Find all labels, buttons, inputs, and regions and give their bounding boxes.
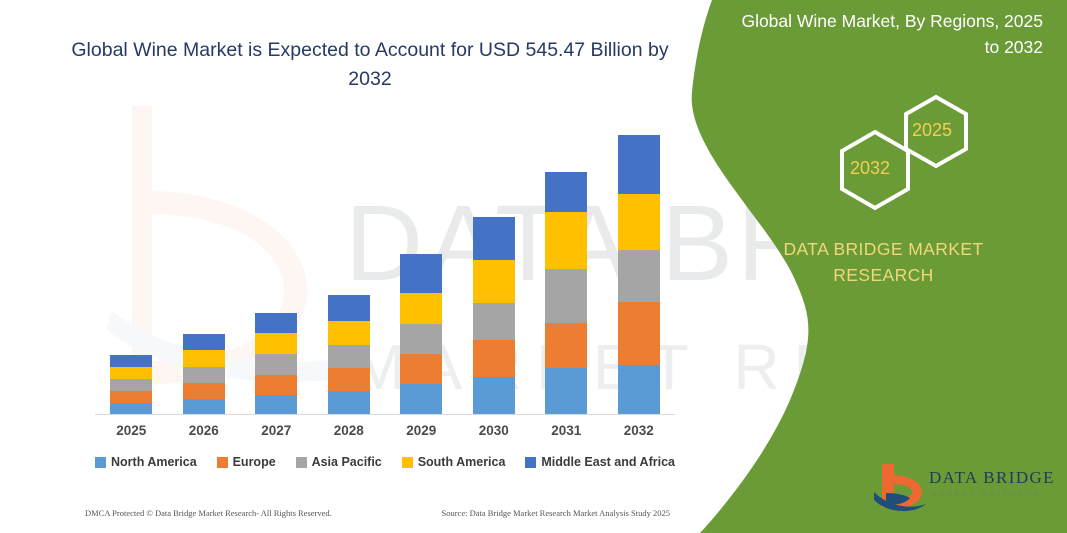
chart-legend: North America Europe Asia Pacific South … <box>95 455 675 469</box>
segment-asia-pacific <box>328 345 370 368</box>
legend-swatch-icon <box>217 457 228 468</box>
legend-label: North America <box>111 455 197 469</box>
segment-south-america <box>400 293 442 324</box>
segment-north-america <box>618 365 660 415</box>
segment-north-america <box>545 368 587 415</box>
segment-europe <box>328 368 370 391</box>
segment-south-america <box>110 367 152 379</box>
x-axis-tick-2027: 2027 <box>240 423 313 438</box>
stacked-bar[interactable] <box>618 135 660 415</box>
segment-europe <box>183 383 225 399</box>
logo-name: DATA BRIDGE <box>929 468 1055 488</box>
legend-item-south-america[interactable]: South America <box>402 455 506 469</box>
segment-middle-east-and-africa <box>618 135 660 194</box>
legend-item-asia-pacific[interactable]: Asia Pacific <box>296 455 382 469</box>
legend-swatch-icon <box>95 457 106 468</box>
hexagon-outlines-icon <box>700 85 1067 215</box>
segment-south-america <box>473 260 515 303</box>
hexagon-label-2025: 2025 <box>912 120 952 141</box>
segment-south-america <box>255 333 297 354</box>
data-bridge-logo-icon <box>872 462 928 514</box>
hexagon-label-2032: 2032 <box>850 158 890 179</box>
bar-column-2026 <box>168 110 241 415</box>
segment-europe <box>110 391 152 403</box>
x-axis-labels: 2025 2026 2027 2028 2029 2030 2031 2032 <box>95 423 675 438</box>
segment-north-america <box>400 384 442 415</box>
x-axis-tick-2031: 2031 <box>530 423 603 438</box>
segment-asia-pacific <box>618 250 660 302</box>
segment-asia-pacific <box>183 367 225 383</box>
legend-label: South America <box>418 455 506 469</box>
legend-swatch-icon <box>402 457 413 468</box>
brand-line1: DATA BRIDGE MARKET <box>783 239 983 259</box>
stacked-bar[interactable] <box>400 254 442 415</box>
legend-swatch-icon <box>296 457 307 468</box>
legend-item-north-america[interactable]: North America <box>95 455 197 469</box>
stacked-bar[interactable] <box>255 313 297 415</box>
segment-north-america <box>183 399 225 415</box>
segment-middle-east-and-africa <box>328 295 370 321</box>
segment-south-america <box>328 321 370 345</box>
segment-asia-pacific <box>473 303 515 340</box>
segment-asia-pacific <box>110 379 152 391</box>
segment-asia-pacific <box>545 269 587 323</box>
x-axis-tick-2029: 2029 <box>385 423 458 438</box>
panel-title: Global Wine Market, By Regions, 2025 to … <box>723 8 1043 60</box>
bar-column-2025 <box>95 110 168 415</box>
x-axis-tick-2028: 2028 <box>313 423 386 438</box>
segment-europe <box>473 340 515 377</box>
segment-europe <box>400 354 442 384</box>
segment-middle-east-and-africa <box>473 217 515 260</box>
company-logo: DATA BRIDGE MARKET RESEARCH <box>872 462 1062 518</box>
x-axis-tick-2030: 2030 <box>458 423 531 438</box>
segment-south-america <box>183 350 225 367</box>
bar-column-2032 <box>603 110 676 415</box>
legend-item-europe[interactable]: Europe <box>217 455 276 469</box>
page-title: Global Wine Market is Expected to Accoun… <box>70 36 670 94</box>
segment-europe <box>255 375 297 395</box>
segment-middle-east-and-africa <box>255 313 297 333</box>
logo-subtitle: MARKET RESEARCH <box>930 489 1042 498</box>
footer-copyright: DMCA Protected © Data Bridge Market Rese… <box>85 508 332 518</box>
hexagon-group: 2025 2032 <box>700 85 1067 215</box>
bar-column-2030 <box>458 110 531 415</box>
stacked-bar[interactable] <box>110 355 152 415</box>
x-axis-line <box>95 414 675 415</box>
infographic-canvas: DATA BRIDGE MARKET RESEARCH Global Wine … <box>0 0 1067 533</box>
stacked-bar[interactable] <box>473 217 515 415</box>
footer: DMCA Protected © Data Bridge Market Rese… <box>85 508 670 518</box>
segment-asia-pacific <box>400 324 442 354</box>
legend-label: Europe <box>233 455 276 469</box>
legend-item-middle-east-and-africa[interactable]: Middle East and Africa <box>525 455 675 469</box>
segment-north-america <box>328 391 370 415</box>
legend-swatch-icon <box>525 457 536 468</box>
segment-middle-east-and-africa <box>110 355 152 367</box>
bar-column-2031 <box>530 110 603 415</box>
segment-middle-east-and-africa <box>183 334 225 350</box>
segment-south-america <box>545 212 587 269</box>
legend-label: Middle East and Africa <box>541 455 675 469</box>
brand-name: DATA BRIDGE MARKET RESEARCH <box>700 236 1067 288</box>
bar-chart-plot <box>95 110 675 415</box>
stacked-bar[interactable] <box>328 295 370 415</box>
legend-label: Asia Pacific <box>312 455 382 469</box>
bar-column-2027 <box>240 110 313 415</box>
x-axis-tick-2025: 2025 <box>95 423 168 438</box>
stacked-bar[interactable] <box>183 334 225 415</box>
segment-europe <box>618 302 660 365</box>
segment-europe <box>545 323 587 368</box>
panel-content: Global Wine Market, By Regions, 2025 to … <box>700 0 1067 533</box>
brand-line2: RESEARCH <box>833 265 933 285</box>
segment-asia-pacific <box>255 354 297 375</box>
stacked-bar[interactable] <box>545 172 587 415</box>
segment-north-america <box>255 395 297 415</box>
x-axis-tick-2026: 2026 <box>168 423 241 438</box>
segment-middle-east-and-africa <box>400 254 442 293</box>
bar-column-2028 <box>313 110 386 415</box>
x-axis-tick-2032: 2032 <box>603 423 676 438</box>
segment-north-america <box>473 377 515 415</box>
segment-middle-east-and-africa <box>545 172 587 212</box>
footer-source: Source: Data Bridge Market Research Mark… <box>441 508 670 518</box>
segment-south-america <box>618 194 660 250</box>
bar-column-2029 <box>385 110 458 415</box>
